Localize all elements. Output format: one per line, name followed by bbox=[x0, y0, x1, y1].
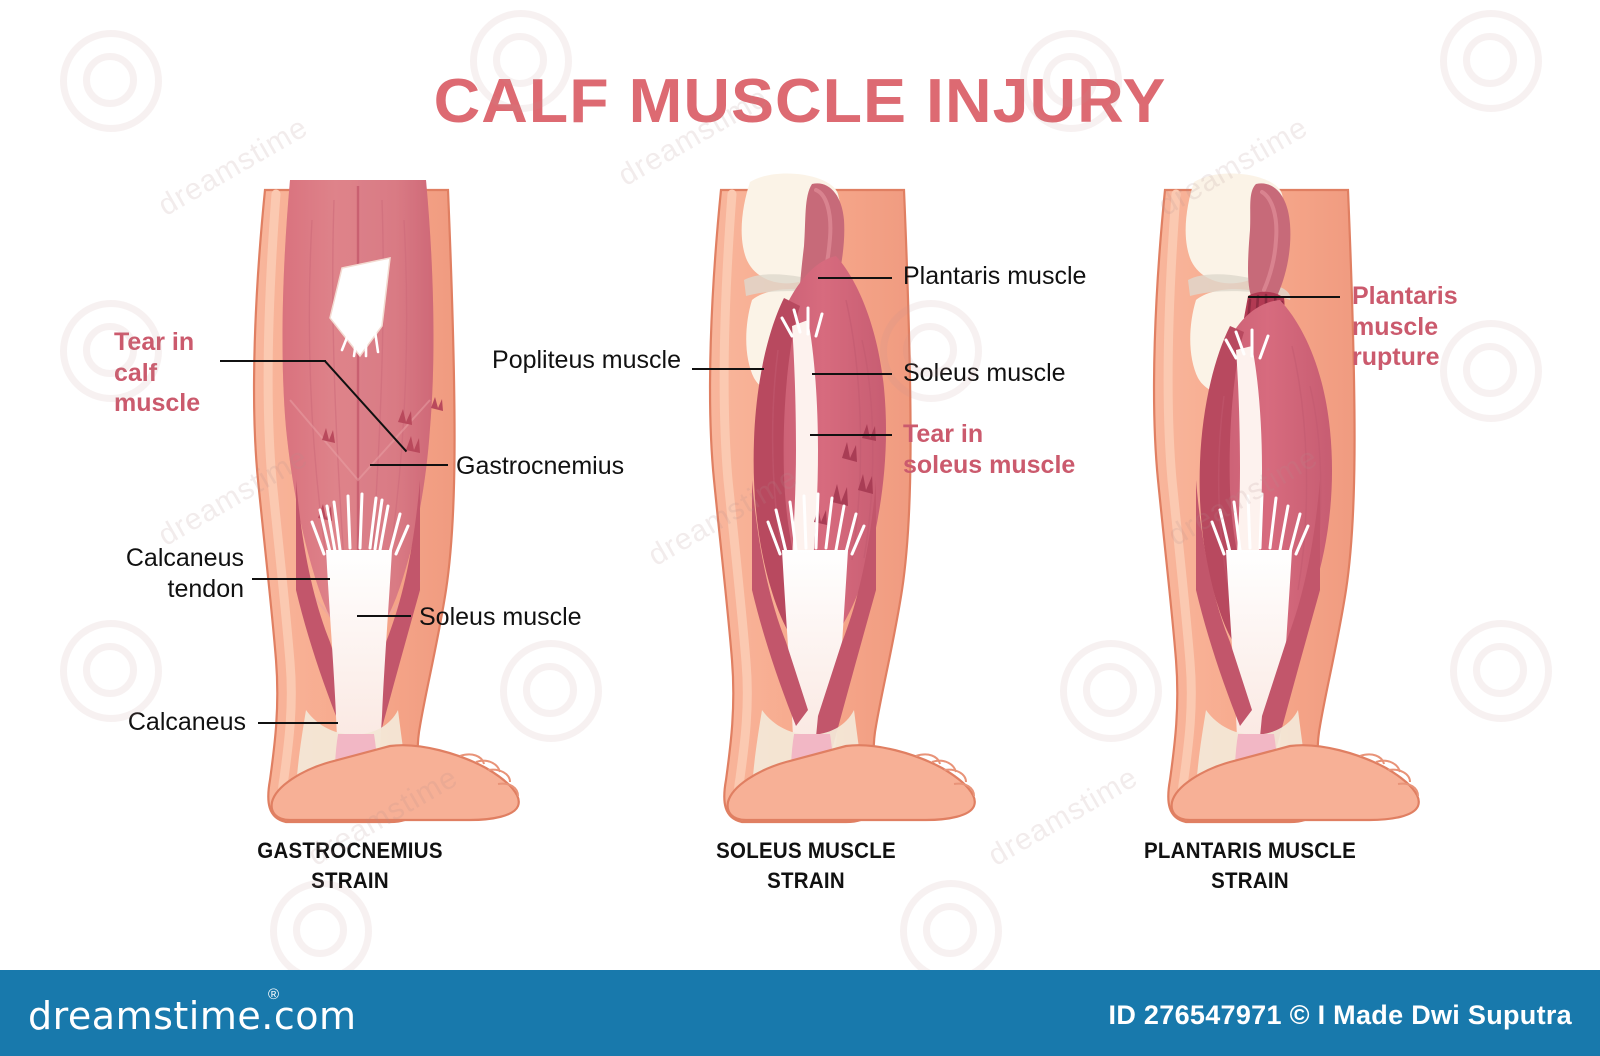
leader-soleus-muscle bbox=[357, 615, 411, 617]
caption-line-1: SOLEUS MUSCLE bbox=[564, 836, 1048, 866]
leader-plantaris-muscle-rupture bbox=[1248, 296, 1340, 298]
caption-line-1: PLANTARIS MUSCLE bbox=[1008, 836, 1492, 866]
caption-plantaris: PLANTARIS MUSCLE STRAIN bbox=[1008, 836, 1492, 895]
caption-line-1: GASTROCNEMIUS bbox=[108, 836, 592, 866]
dreamstime-logo[interactable]: dreamstime.com bbox=[28, 994, 356, 1038]
leader-tear-in-soleus-muscle bbox=[810, 434, 892, 436]
label-calcaneus: Calcaneus bbox=[80, 707, 246, 738]
leader-gastrocnemius bbox=[370, 464, 448, 466]
label-plantaris-muscle-rupture: Plantaris muscle rupture bbox=[1352, 281, 1458, 373]
registered-mark-icon: ® bbox=[268, 986, 279, 1003]
label-popliteus-muscle: Popliteus muscle bbox=[453, 345, 681, 376]
leader-plantaris-muscle bbox=[818, 277, 892, 279]
caption-gastrocnemius: GASTROCNEMIUS STRAIN bbox=[108, 836, 592, 895]
leader-calcaneus bbox=[258, 722, 338, 724]
caption-soleus: SOLEUS MUSCLE STRAIN bbox=[564, 836, 1048, 895]
leader-soleus-muscle-2 bbox=[812, 373, 892, 375]
figure-plantaris: PLANTARIS MUSCLE STRAIN bbox=[990, 150, 1510, 830]
page-title: CALF MUSCLE INJURY bbox=[0, 66, 1600, 137]
figure-soleus: SOLEUS MUSCLE STRAIN bbox=[546, 150, 1066, 830]
image-credit: ID 276547971 © I Made Dwi Suputra bbox=[1109, 1000, 1572, 1031]
footer-bar: dreamstime.com ® ID 276547971 © I Made D… bbox=[0, 970, 1600, 1056]
label-tear-in-calf-muscle: Tear in calf muscle bbox=[114, 327, 200, 419]
label-calcaneus-tendon: Calcaneus tendon bbox=[74, 543, 244, 604]
soleus-leg-illustration bbox=[546, 150, 1066, 830]
caption-line-2: STRAIN bbox=[1008, 866, 1492, 896]
leader-calcaneus-tendon bbox=[252, 578, 330, 580]
caption-line-2: STRAIN bbox=[108, 866, 592, 896]
caption-line-2: STRAIN bbox=[564, 866, 1048, 896]
plantaris-leg-illustration bbox=[990, 150, 1510, 830]
leader-tear-in-calf-muscle bbox=[220, 360, 326, 362]
leader-popliteus-muscle bbox=[692, 368, 764, 370]
